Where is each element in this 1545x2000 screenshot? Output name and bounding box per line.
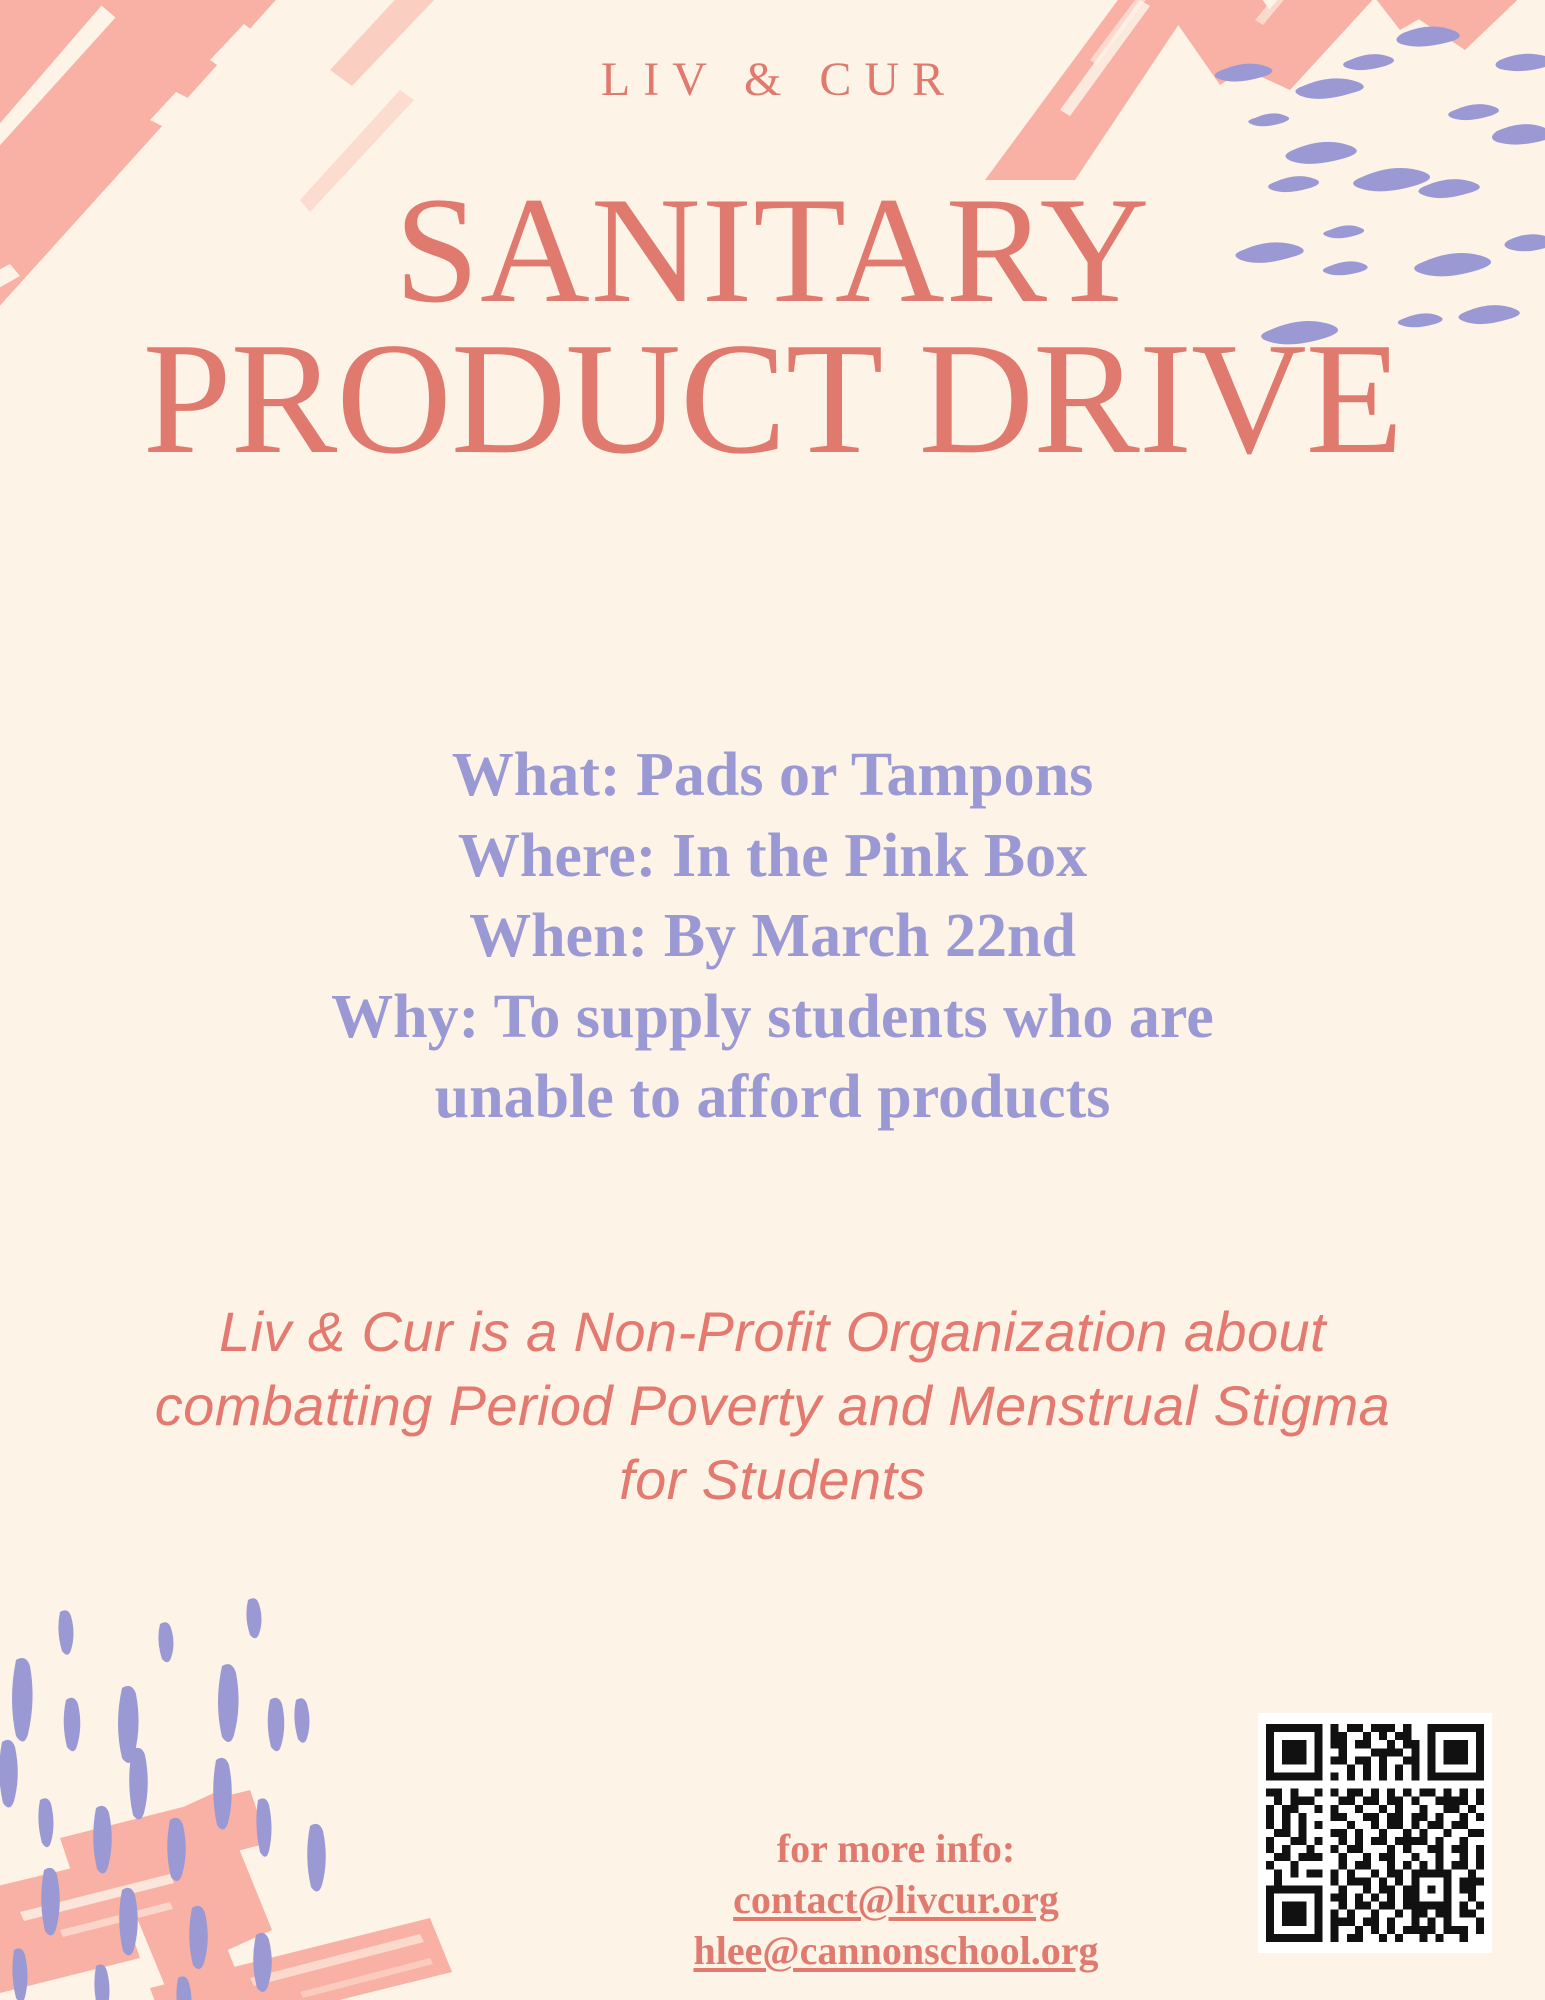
mission-line-3: for Students bbox=[75, 1443, 1470, 1517]
page-title: SANITARY PRODUCT DRIVE bbox=[0, 178, 1545, 474]
page-title-line-2: PRODUCT DRIVE bbox=[0, 322, 1545, 474]
drive-details: What: Pads or Tampons Where: In the Pink… bbox=[0, 735, 1545, 1138]
page-title-line-1: SANITARY bbox=[0, 178, 1545, 322]
mission-line-2: combatting Period Poverty and Menstrual … bbox=[75, 1369, 1470, 1443]
contact-block: for more info: contact@livcur.org hlee@c… bbox=[560, 1823, 1232, 1977]
detail-what: What: Pads or Tampons bbox=[0, 735, 1545, 816]
detail-why-line-1: Why: To supply students who are bbox=[0, 977, 1545, 1058]
poster-canvas: LIV & CUR SANITARY PRODUCT DRIVE What: P… bbox=[0, 0, 1545, 2000]
qr-code[interactable] bbox=[1258, 1713, 1492, 1953]
detail-where: Where: In the Pink Box bbox=[0, 816, 1545, 897]
dash-marks-bottom-left-group bbox=[0, 1598, 326, 2000]
detail-when: When: By March 22nd bbox=[0, 896, 1545, 977]
mission-line-1: Liv & Cur is a Non-Profit Organization a… bbox=[75, 1295, 1470, 1369]
brand-name: LIV & CUR bbox=[0, 52, 1545, 107]
contact-label: for more info: bbox=[560, 1823, 1232, 1874]
brush-stroke-bottom-left-group bbox=[0, 1790, 452, 2000]
contact-email-org[interactable]: contact@livcur.org bbox=[560, 1874, 1232, 1925]
contact-email-school[interactable]: hlee@cannonschool.org bbox=[560, 1925, 1232, 1976]
mission-statement: Liv & Cur is a Non-Profit Organization a… bbox=[75, 1295, 1470, 1517]
detail-why-line-2: unable to afford products bbox=[0, 1057, 1545, 1138]
